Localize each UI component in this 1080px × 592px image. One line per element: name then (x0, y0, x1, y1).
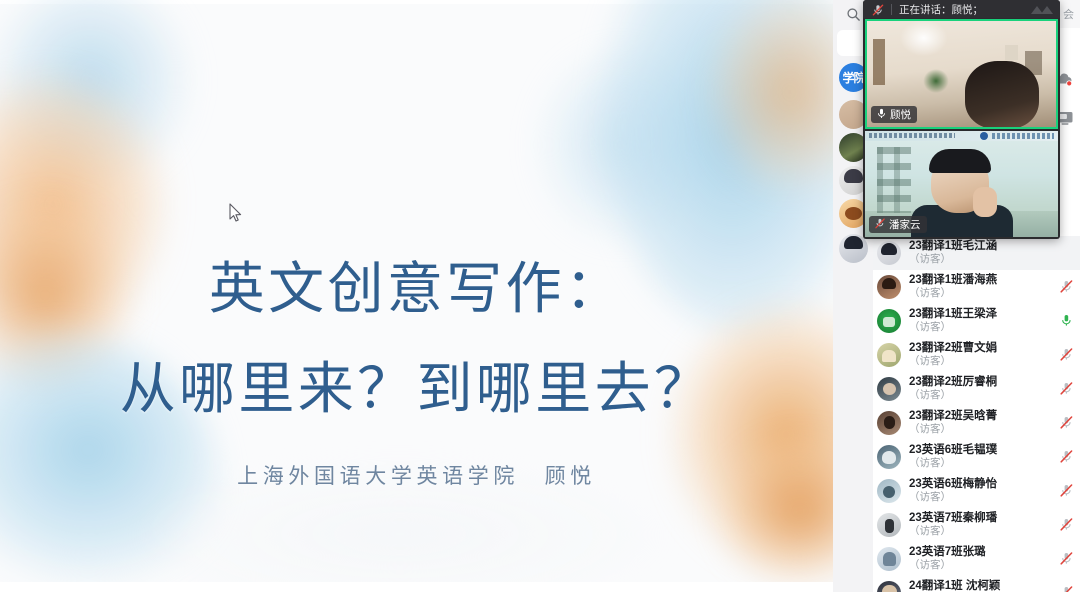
tile1-person (965, 61, 1039, 129)
participant-row[interactable]: 23翻译1班毛江涵（访客） (873, 236, 1080, 270)
tile2-banner (865, 131, 1058, 141)
participant-role: （访客） (909, 356, 997, 368)
participant-name: 23翻译2班吴晗菁 (909, 410, 997, 423)
participant-info: 23英语6班梅静怡（访客） (909, 478, 997, 503)
participant-role: （访客） (909, 492, 997, 504)
meeting-header-label: 会 (1063, 6, 1074, 22)
participant-avatar (877, 309, 901, 333)
mic-off-icon[interactable] (1060, 518, 1073, 531)
slide-title-line-1: 英文创意写作： (0, 244, 833, 325)
participant-row[interactable]: 24翻译1班 沈柯颖（访客） (873, 576, 1080, 592)
tile1-plant (919, 65, 953, 97)
participant-info: 23翻译2班吴晗菁（访客） (909, 410, 997, 435)
participant-list[interactable]: 23翻译1班毛江涵（访客）23翻译1班潘海燕（访客）23翻译1班王梁泽（访客）2… (873, 236, 1080, 592)
participant-row[interactable]: 23翻译1班潘海燕（访客） (873, 270, 1080, 304)
participant-avatar (877, 411, 901, 435)
participant-name: 23翻译2班曹文娟 (909, 342, 997, 355)
tile2-calligraphy (877, 147, 911, 213)
avatar-xueyuan-label: 学院 (842, 69, 864, 86)
participant-avatar (877, 581, 901, 592)
participant-info: 23英语6班毛韫璞（访客） (909, 444, 997, 469)
video-tile-secondary[interactable]: 潘家云 (865, 131, 1058, 237)
participant-row[interactable]: 23翻译2班曹文娟（访客） (873, 338, 1080, 372)
participant-avatar (877, 445, 901, 469)
participant-name: 23英语7班张璐 (909, 546, 986, 559)
floating-video-window[interactable]: 正在讲话：顾悦； 顾悦 (863, 0, 1060, 239)
mouse-cursor (229, 203, 243, 223)
participant-avatar (877, 513, 901, 537)
mic-off-icon (875, 218, 885, 232)
participant-role: （访客） (909, 254, 997, 266)
participant-row[interactable]: 23英语7班秦柳璠（访客） (873, 508, 1080, 542)
mic-off-icon[interactable] (1060, 416, 1073, 429)
participant-row[interactable]: 23英语6班梅静怡（访客） (873, 474, 1080, 508)
tile1-wall-paper (1005, 45, 1018, 60)
participant-avatar (877, 241, 901, 265)
video-tile-2-name: 潘家云 (889, 217, 921, 232)
shared-screen-slide: 英文创意写作： 从哪里来？到哪里去？ 上海外国语大学英语学院 顾悦 (0, 0, 833, 592)
video-window-titlebar[interactable]: 正在讲话：顾悦； (863, 0, 1060, 18)
participant-row[interactable]: 23翻译2班厉睿桐（访客） (873, 372, 1080, 406)
participant-role: （访客） (909, 288, 997, 300)
participant-row[interactable]: 23翻译2班吴晗菁（访客） (873, 406, 1080, 440)
mic-off-icon[interactable] (1060, 552, 1073, 565)
participant-role: （访客） (909, 560, 986, 572)
slide-subtitle: 上海外国语大学英语学院 顾悦 (0, 460, 833, 490)
participant-role: （访客） (909, 526, 997, 538)
video-tile-active-speaker[interactable]: 顾悦 (865, 19, 1058, 129)
participant-name: 23翻译1班毛江涵 (909, 240, 997, 253)
participant-info: 23翻译1班潘海燕（访客） (909, 274, 997, 299)
participant-role: （访客） (909, 424, 997, 436)
participant-role: （访客） (909, 390, 997, 402)
slide-title-line-2: 从哪里来？到哪里去？ (0, 344, 833, 425)
tile1-cabinet (873, 39, 885, 85)
participant-role: （访客） (909, 458, 997, 470)
mic-off-icon[interactable] (1060, 586, 1073, 592)
participant-name: 23英语6班梅静怡 (909, 478, 997, 491)
participant-role: （访客） (909, 322, 997, 334)
mic-off-icon[interactable] (1060, 450, 1073, 463)
slide-text-block: 英文创意写作： 从哪里来？到哪里去？ 上海外国语大学英语学院 顾悦 (0, 0, 833, 592)
video-tile-2-name-chip: 潘家云 (869, 216, 927, 233)
participant-name: 24翻译1班 沈柯颖 (909, 580, 1000, 592)
participant-avatar (877, 547, 901, 571)
participant-name: 23翻译1班王梁泽 (909, 308, 997, 321)
mic-off-icon (872, 3, 884, 15)
mic-on-icon (877, 108, 886, 122)
tile2-person-hair (929, 149, 991, 173)
participant-info: 23翻译2班曹文娟（访客） (909, 342, 997, 367)
participant-info: 23翻译1班王梁泽（访客） (909, 308, 997, 333)
participant-info: 23翻译1班毛江涵（访客） (909, 240, 997, 265)
participant-name: 23英语7班秦柳璠 (909, 512, 997, 525)
participant-avatar (877, 343, 901, 367)
participant-avatar (877, 275, 901, 299)
participant-name: 23翻译1班潘海燕 (909, 274, 997, 287)
participant-info: 24翻译1班 沈柯颖（访客） (909, 580, 1000, 592)
mic-off-icon[interactable] (1060, 382, 1073, 395)
mic-off-icon[interactable] (1060, 280, 1073, 293)
participant-row[interactable]: 23英语6班毛韫璞（访客） (873, 440, 1080, 474)
participant-avatar (877, 377, 901, 401)
video-tile-1-name: 顾悦 (890, 107, 911, 122)
participant-info: 23英语7班张璐（访客） (909, 546, 986, 571)
tile2-person-hand (973, 187, 997, 217)
mic-off-icon[interactable] (1060, 484, 1073, 497)
slide-bottom-edge (0, 582, 833, 592)
video-tile-1-name-chip: 顾悦 (871, 106, 917, 123)
titlebar-divider (891, 4, 892, 15)
participant-row[interactable]: 23翻译1班王梁泽（访客） (873, 304, 1080, 338)
participant-info: 23翻译2班厉睿桐（访客） (909, 376, 997, 401)
mic-off-icon[interactable] (1060, 348, 1073, 361)
participant-row[interactable]: 23英语7班张璐（访客） (873, 542, 1080, 576)
participant-name: 23翻译2班厉睿桐 (909, 376, 997, 389)
participant-avatar (877, 479, 901, 503)
mic-on-icon[interactable] (1060, 314, 1073, 327)
participant-info: 23英语7班秦柳璠（访客） (909, 512, 997, 537)
speaking-status-text: 正在讲话：顾悦； (899, 2, 983, 17)
participant-name: 23英语6班毛韫璞 (909, 444, 997, 457)
